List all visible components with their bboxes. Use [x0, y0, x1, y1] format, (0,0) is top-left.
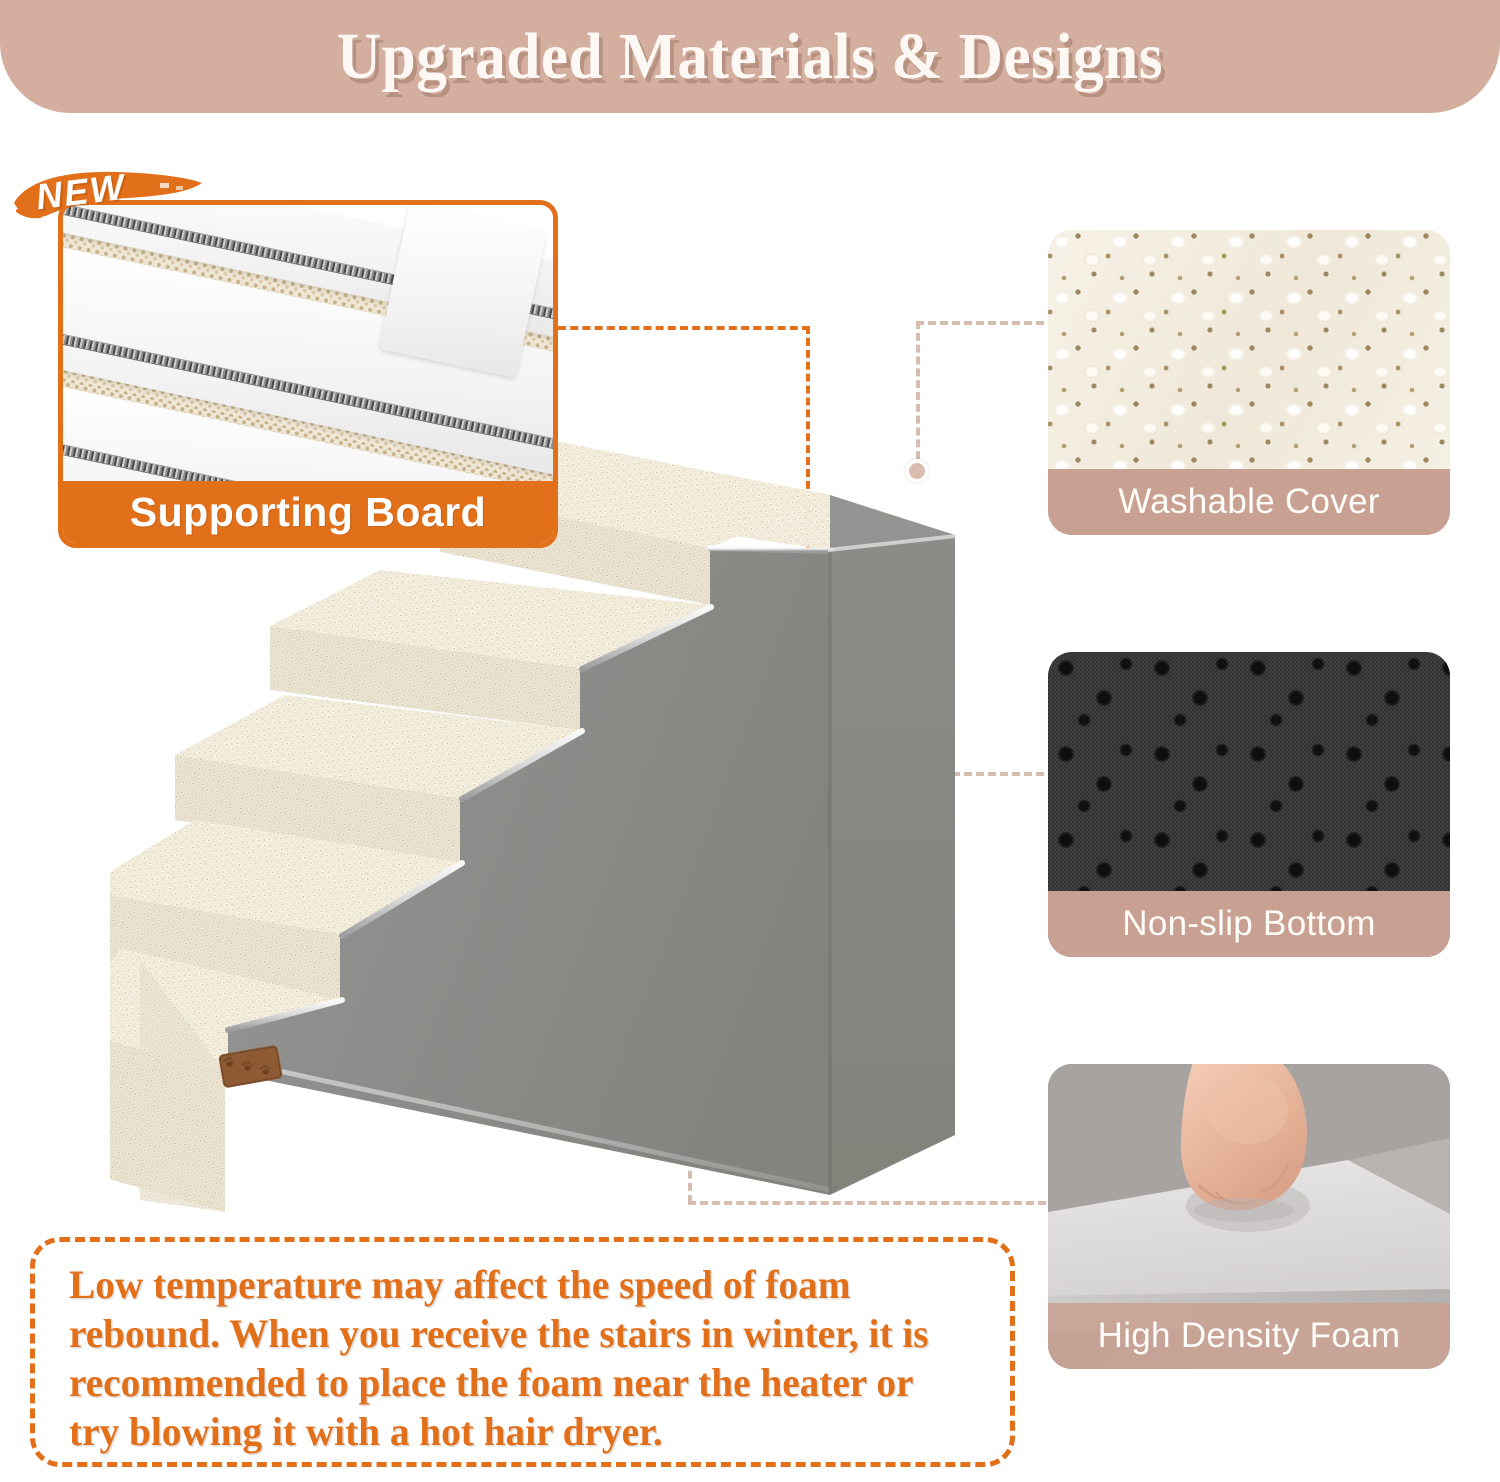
supporting-board-photo [63, 205, 553, 481]
connector-washable-cover-horizontal [916, 321, 1056, 325]
washable-cover-caption: Washable Cover [1048, 469, 1450, 535]
panel-washable-cover: Washable Cover [1048, 230, 1450, 535]
nonslip-bottom-caption: Non-slip Bottom [1048, 891, 1450, 957]
panel-high-density-foam: High Density Foam [1048, 1064, 1450, 1369]
supporting-board-caption: Supporting Board [63, 481, 553, 543]
warning-notice-box: Low temperature may affect the speed of … [30, 1237, 1015, 1467]
panel-nonslip-bottom: Non-slip Bottom [1048, 652, 1450, 957]
panel-supporting-board: Supporting Board [58, 200, 558, 548]
connector-supporting-board-horizontal [558, 326, 810, 330]
new-badge: NEW [8, 163, 208, 231]
high-density-foam-caption: High Density Foam [1048, 1303, 1450, 1369]
page-title: Upgraded Materials & Designs [53, 0, 1448, 113]
warning-notice-text: Low temperature may affect the speed of … [69, 1260, 949, 1456]
